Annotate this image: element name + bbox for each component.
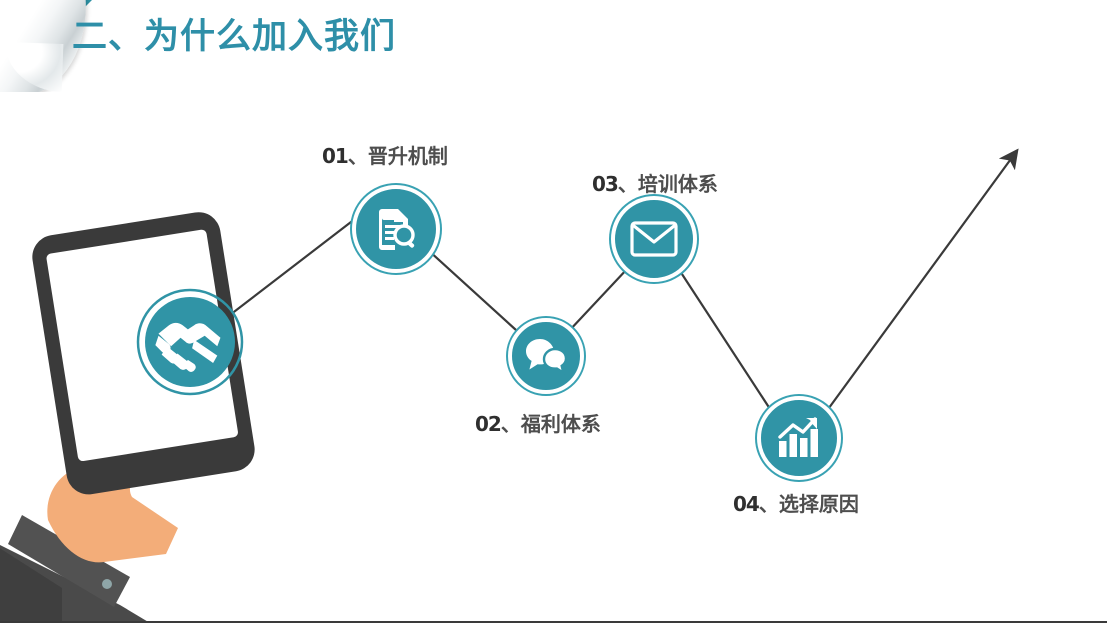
node-01-label: 01、晋升机制 — [322, 140, 448, 169]
hand-tablet-illustration — [0, 210, 300, 623]
node-04-number: 04 — [733, 492, 759, 516]
node-04-label: 04、选择原因 — [733, 488, 859, 517]
connector-node2-to-node3 — [568, 268, 628, 332]
node-01-circle[interactable] — [352, 185, 440, 273]
node-02-label: 02、福利体系 — [475, 408, 601, 437]
handshake-icon — [138, 290, 242, 394]
slide-canvas: 二、为什么加入我们 — [0, 0, 1107, 623]
node-01-text: 晋升机制 — [368, 146, 448, 168]
connector-node1-to-node2 — [428, 250, 516, 330]
node-03-separator: 、 — [618, 174, 638, 196]
envelope-icon — [630, 221, 678, 257]
node-01-separator: 、 — [348, 146, 368, 168]
node-02-number: 02 — [475, 412, 501, 436]
node-04-separator: 、 — [759, 494, 779, 516]
connector-node4-to-arrow — [826, 152, 1016, 412]
node-02-text: 福利体系 — [521, 414, 601, 436]
cuff-button — [102, 579, 112, 589]
growth-chart-icon — [776, 417, 822, 459]
node-03-circle[interactable] — [611, 196, 697, 282]
node-03-number: 03 — [592, 172, 618, 196]
connector-node3-to-node4 — [678, 268, 772, 412]
node-04-circle[interactable] — [757, 396, 841, 480]
node-03-text: 培训体系 — [638, 174, 718, 196]
node-02-circle[interactable] — [508, 318, 584, 394]
document-search-icon — [373, 206, 419, 252]
node-02-separator: 、 — [501, 414, 521, 436]
node-04-text: 选择原因 — [779, 494, 859, 516]
node-03-label: 03、培训体系 — [592, 168, 718, 197]
speech-bubbles-icon — [525, 337, 567, 375]
node-01-number: 01 — [322, 144, 348, 168]
